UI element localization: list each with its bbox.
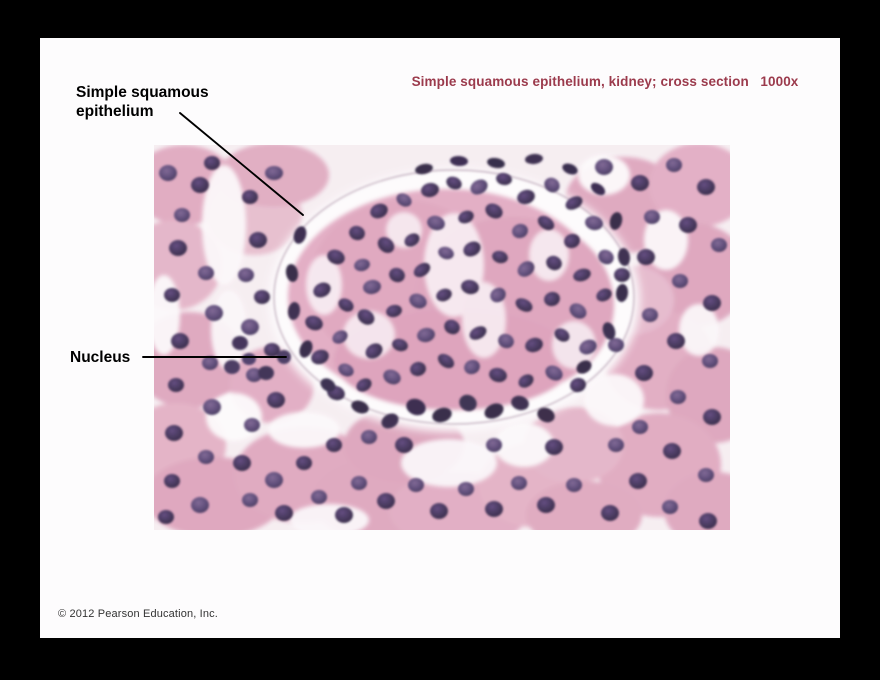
figure-title: Simple squamous epithelium, kidney; cros… [370,74,840,89]
slide-panel: Simple squamous epithelium, kidney; cros… [40,38,840,638]
label-nucleus: Nucleus [70,348,130,367]
micrograph-image [154,145,730,530]
label-simple-squamous-epithelium: Simple squamous epithelium [76,83,256,122]
copyright-notice: © 2012 Pearson Education, Inc. [58,608,218,620]
micrograph-svg [154,145,730,530]
slide-root: Simple squamous epithelium, kidney; cros… [0,0,880,680]
